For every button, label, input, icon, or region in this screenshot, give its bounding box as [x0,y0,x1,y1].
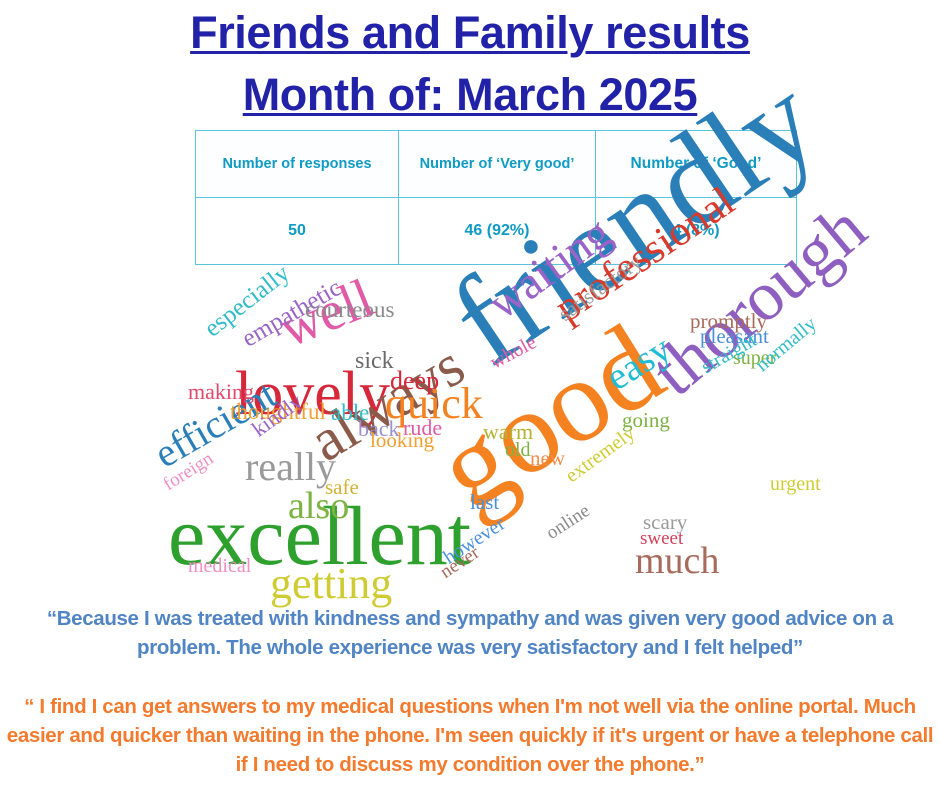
word-cloud-term: courteous [305,298,394,321]
word-cloud-term: really [245,447,336,487]
word-cloud-term: deep [390,368,439,394]
word-cloud-term: getting [270,562,392,606]
word-cloud-term: new [530,448,565,469]
word-cloud-term: old [505,440,531,460]
word-cloud-term: sweet [640,529,683,548]
word-cloud-term: online [543,501,593,543]
cell-responses-count: 50 [196,198,399,265]
word-cloud: friendlygoodexcellentthoroughlovelyalway… [0,262,940,602]
word-cloud-term: making [188,381,254,403]
patient-quote-one: “Because I was treated with kindness and… [0,604,940,662]
word-cloud-term: looking [370,430,434,451]
title-line-1: Friends and Family results [0,2,940,64]
word-cloud-term: sick [355,349,394,373]
word-cloud-term: urgent [770,474,821,494]
table-header-responses: Number of responses [196,131,399,198]
word-cloud-term: safe [325,477,359,498]
word-cloud-term: medical [188,556,251,576]
word-cloud-term: last [470,492,499,513]
patient-quote-two: “ I find I can get answers to my medical… [0,692,940,779]
